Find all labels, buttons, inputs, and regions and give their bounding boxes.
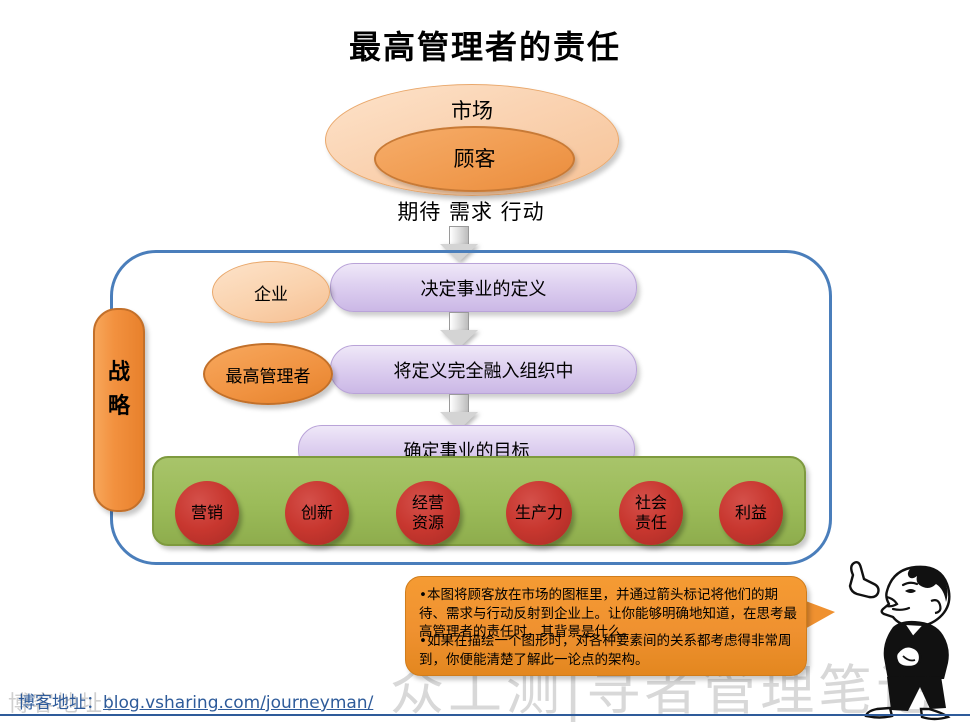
function-label-4-line2: 责任 <box>635 513 667 533</box>
step-bar-label-0: 决定事业的定义 <box>331 264 636 311</box>
blog-address-link[interactable]: blog.vsharing.com/journeyman/ <box>103 693 373 713</box>
blog-address-prefix: 博客地址： <box>18 693 103 713</box>
customer-ellipse: 顾客 <box>374 126 575 192</box>
functions-box <box>152 456 806 546</box>
role-label-0: 企业 <box>213 262 329 322</box>
function-label-0-line1: 营销 <box>191 503 223 523</box>
role-ellipse-1: 最高管理者 <box>203 343 333 405</box>
function-circle-4: 社会 责任 <box>619 481 683 545</box>
cartoon-man-illustration <box>835 557 965 722</box>
function-circle-5: 利益 <box>719 481 783 545</box>
function-label-4-line1: 社会 <box>635 493 667 513</box>
callout-text-2: •如果在描绘一个图形时，对各种要素间的关系都考虑得非常周到，你便能清楚了解此一论… <box>419 632 797 669</box>
strategy-label-line2: 略 <box>95 390 143 424</box>
function-label-1: 创新 <box>285 481 349 545</box>
function-label-2: 经营 资源 <box>396 481 460 545</box>
arrow-down-icon-1 <box>440 312 478 348</box>
step-bar-label-1: 将定义完全融入组织中 <box>331 346 636 393</box>
function-label-1-line1: 创新 <box>301 503 333 523</box>
function-circle-2: 经营 资源 <box>396 481 460 545</box>
step-bar-0: 决定事业的定义 <box>330 263 637 312</box>
footer-rule <box>0 714 970 716</box>
strategy-label: 战 略 <box>95 356 143 424</box>
strategy-pill: 战 略 <box>93 308 145 512</box>
function-label-5-line1: 利益 <box>735 503 767 523</box>
role-ellipse-0: 企业 <box>212 261 330 323</box>
function-label-5: 利益 <box>719 481 783 545</box>
strategy-label-line1: 战 <box>95 356 143 390</box>
function-label-2-line1: 经营 <box>412 493 444 513</box>
function-label-3: 生产力 <box>506 481 572 545</box>
expectation-needs-action-label: 期待 需求 行动 <box>325 196 617 226</box>
market-label: 市场 <box>326 95 618 125</box>
function-label-4: 社会 责任 <box>619 481 683 545</box>
function-circle-3: 生产力 <box>506 481 572 545</box>
role-label-1: 最高管理者 <box>205 345 331 403</box>
slide-canvas: 最高管理者的责任 市场 顾客 期待 需求 行动 战 略 决定事业的定义 企业 将… <box>0 0 970 728</box>
arrow-shaft <box>449 226 469 245</box>
function-circle-1: 创新 <box>285 481 349 545</box>
page-title: 最高管理者的责任 <box>0 22 970 68</box>
function-label-3-line1: 生产力 <box>515 503 563 523</box>
step-bar-1: 将定义完全融入组织中 <box>330 345 637 394</box>
arrow-shaft <box>449 394 469 413</box>
function-label-0: 营销 <box>175 481 239 545</box>
callout-tail <box>803 600 835 630</box>
function-label-2-line2: 资源 <box>412 513 444 533</box>
arrow-shaft <box>449 312 469 331</box>
customer-label: 顾客 <box>376 143 573 173</box>
explanation-callout: •本图将顾客放在市场的图框里，并通过箭头标记将他们的期待、需求与行动反射到企业上… <box>405 576 807 676</box>
function-circle-0: 营销 <box>175 481 239 545</box>
blog-address-line: 博客地址：blog.vsharing.com/journeyman/ <box>18 688 448 713</box>
